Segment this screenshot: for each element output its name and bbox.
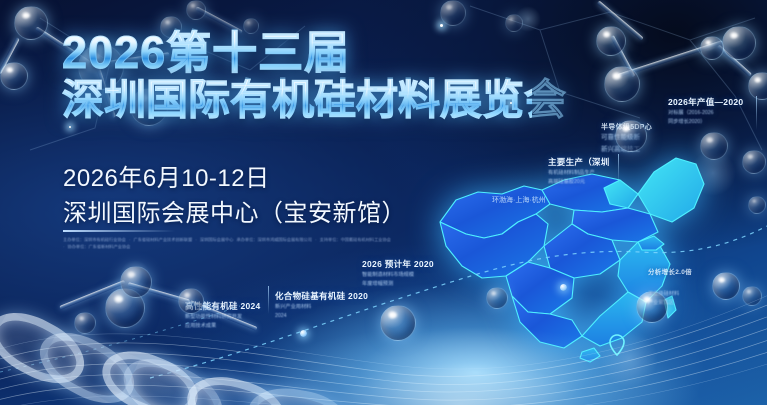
- anno-production-sub2: 高端硅基胶20元: [548, 178, 610, 186]
- sparkle-icon: [510, 102, 512, 104]
- anno-production-sub1: 有机硅材料制品生产: [548, 169, 610, 177]
- organizer-fineprint: 主办单位：深圳市有机硅行业协会 · 广东省硅材料产业技术创新联盟 · 深圳国际会…: [63, 236, 393, 251]
- anno-tech-sub2: 新兴高端技工: [601, 145, 652, 156]
- anno-compound: 化合物硅基有机硅 2020 新兴产业用材料 2024: [275, 290, 368, 321]
- anno-compound-sub2: 2024: [275, 312, 368, 320]
- anno-east-sub2: 产业聚集区: [648, 299, 692, 307]
- anno-rule: [756, 96, 757, 130]
- poster-headline: 2026第十三届 深圳国际有机硅材料展览会: [62, 30, 532, 122]
- anno-rule: [618, 154, 619, 184]
- anno-compound-heading: 化合物硅基有机硅 2020: [275, 290, 368, 302]
- anno-forecast: 2026年产值—2020 对标展（2016-2026 同步增长2020）: [668, 96, 743, 127]
- anno-2026-sub1: 智能制造材料市场规模: [362, 271, 434, 279]
- anno-production-heading: 主要生产（深圳: [548, 156, 610, 168]
- anno-compound-sub1: 新兴产业用材料: [275, 303, 368, 311]
- event-venue: 深圳国际会展中心（宝安新馆）: [63, 197, 406, 232]
- anno-east: 分析增长2.0倍 工业级硅材料 产业聚集区: [648, 266, 692, 308]
- event-info: 2026年6月10-12日 深圳国际会展中心（宝安新馆）: [63, 162, 406, 232]
- anno-forecast-sub2: 同步增长2020）: [668, 118, 743, 126]
- anno-2026: 2026 预计年 2020 智能制造材料市场规模 年度增幅预测: [362, 258, 434, 289]
- anno-tech: 半导体级5DP心 可靠性能级断 新兴高端技工: [601, 122, 652, 155]
- anno-production: 主要生产（深圳 有机硅材料制品生产 高端硅基胶20元: [548, 156, 610, 187]
- event-date: 2026年6月10-12日: [63, 162, 406, 197]
- anno-east-sub1: 工业级硅材料: [648, 290, 692, 298]
- anno-rule: [268, 286, 269, 314]
- anno-tech-sub1: 可靠性能级断: [601, 133, 652, 144]
- anno-2026-heading: 2026 预计年 2020: [362, 258, 434, 270]
- anno-east-heading: 分析增长2.0倍: [648, 266, 692, 276]
- anno-forecast-sub1: 对标展（2016-2026: [668, 109, 743, 117]
- headline-line-1: 2026第十三届: [62, 30, 532, 76]
- anno-high-perf: 高性能有机硅 2024 新型功能性材料研究开发 应用技术成果: [185, 300, 261, 331]
- anno-high-perf-sub2: 应用技术成果: [185, 322, 261, 330]
- anno-high-perf-sub1: 新型功能性材料研究开发: [185, 313, 261, 321]
- headline-line-2: 深圳国际有机硅材料展览会: [62, 79, 532, 122]
- sparkle-icon: [440, 24, 443, 27]
- anno-high-perf-heading: 高性能有机硅 2024: [185, 300, 261, 312]
- exhibition-poster: 2026第十三届 深圳国际有机硅材料展览会 2026年6月10-12日 深圳国际…: [0, 0, 767, 405]
- anno-2026-sub2: 年度增幅预测: [362, 280, 434, 288]
- anno-forecast-heading: 2026年产值—2020: [668, 96, 743, 108]
- sparkle-icon: [69, 126, 71, 128]
- anno-tech-heading: 半导体级5DP心: [601, 122, 652, 132]
- svg-text:环渤海·上海·杭州: 环渤海·上海·杭州: [492, 195, 546, 204]
- divider: [63, 230, 175, 232]
